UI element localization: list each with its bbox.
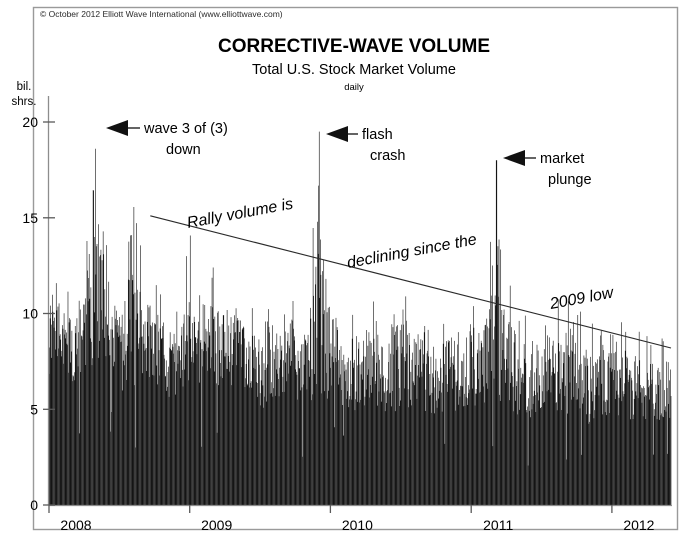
annotation-label-line1: market <box>540 151 584 167</box>
chart-frequency-label: daily <box>344 82 364 93</box>
y-axis-tick-label: 10 <box>22 306 38 322</box>
y-axis-tick-label: 20 <box>22 114 38 130</box>
x-axis-tick-label: 2011 <box>483 517 513 533</box>
annotation-label-line1: wave 3 of (3) <box>143 121 228 137</box>
x-axis-tick-label: 2009 <box>201 517 232 533</box>
x-axis-tick-label: 2012 <box>623 517 654 533</box>
y-axis-tick-label: 0 <box>30 497 38 513</box>
chart-title: CORRECTIVE-WAVE VOLUME <box>218 36 490 57</box>
y-axis-unit-line1: bil. <box>17 81 32 93</box>
corrective-wave-volume-chart: © October 2012 Elliott Wave Internationa… <box>0 0 684 537</box>
annotation-label-line2: down <box>166 142 201 158</box>
chart-container: © October 2012 Elliott Wave Internationa… <box>0 0 684 537</box>
y-axis-tick-label: 15 <box>22 210 38 226</box>
x-axis-tick-label: 2010 <box>342 517 373 533</box>
annotation-label-line2: plunge <box>548 172 592 188</box>
annotation-label-line2: crash <box>370 148 405 164</box>
copyright-notice: © October 2012 Elliott Wave Internationa… <box>40 9 283 19</box>
y-axis-tick-label: 5 <box>30 401 38 417</box>
x-axis-tick-label: 2008 <box>60 517 91 533</box>
y-axis-unit-line2: shrs. <box>12 96 37 108</box>
annotation-label-line1: flash <box>362 127 393 143</box>
chart-subtitle: Total U.S. Stock Market Volume <box>252 62 456 78</box>
